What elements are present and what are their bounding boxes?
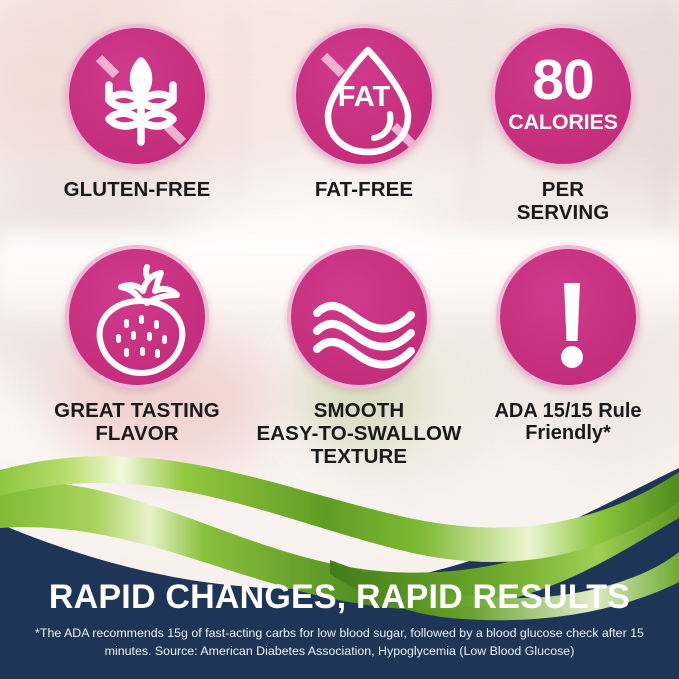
badge-circle	[65, 24, 209, 168]
badge-gluten-free: GLUTEN-FREE	[24, 24, 250, 202]
calories-word: CALORIES	[495, 112, 631, 134]
exclamation-icon	[500, 249, 644, 393]
wavy-lines-icon	[291, 249, 435, 393]
calories-number: 80	[495, 52, 631, 109]
footer-headline: RAPID CHANGES, RAPID RESULTS	[0, 580, 679, 614]
badge-circle-wrap	[65, 245, 209, 389]
badge-ada-rule: ADA 15/15 Rule Friendly*	[455, 245, 679, 445]
badge-label: FAT-FREE	[251, 179, 477, 202]
badge-label-line: PER	[450, 179, 676, 202]
badge-circle-wrap	[496, 245, 640, 389]
badge-circle	[287, 245, 431, 389]
badge-circle: 80 CALORIES	[491, 24, 635, 168]
badge-circle	[65, 245, 209, 389]
badge-circle-wrap	[287, 245, 431, 389]
badge-label-line: SMOOTH	[246, 400, 472, 423]
badge-great-tasting-flavor: GREAT TASTING FLAVOR	[24, 245, 250, 446]
promo-graphic: GLUTEN-FREE FAT FAT-FREE	[0, 0, 679, 679]
badge-calories: 80 CALORIES PER SERVING	[450, 24, 676, 224]
benefit-badge-grid: GLUTEN-FREE FAT FAT-FREE	[0, 0, 679, 450]
badge-fat-free: FAT FAT-FREE	[251, 24, 477, 202]
badge-circle-wrap	[65, 24, 209, 168]
badge-circle-wrap: 80 CALORIES	[491, 24, 635, 168]
strawberry-icon	[69, 249, 213, 393]
badge-label-line: SERVING	[450, 202, 676, 225]
badge-circle: FAT	[292, 24, 436, 168]
badge-label: PER SERVING	[450, 179, 676, 224]
footer-footnote: *The ADA recommends 15g of fast-acting c…	[0, 625, 679, 660]
badge-label: GLUTEN-FREE	[24, 179, 250, 202]
badge-label-line: ADA 15/15 Rule	[455, 400, 679, 422]
footnote-line-1: *The ADA recommends 15g of fast-acting c…	[35, 626, 598, 640]
badge-circle-wrap: FAT	[292, 24, 436, 168]
badge-label-line: GREAT TASTING	[24, 400, 250, 423]
footer-text-block: RAPID CHANGES, RAPID RESULTS *The ADA re…	[0, 580, 679, 660]
badge-circle	[496, 245, 640, 389]
droplet-fat-text: FAT	[296, 83, 432, 112]
wheat-no-slash-icon	[69, 28, 213, 172]
